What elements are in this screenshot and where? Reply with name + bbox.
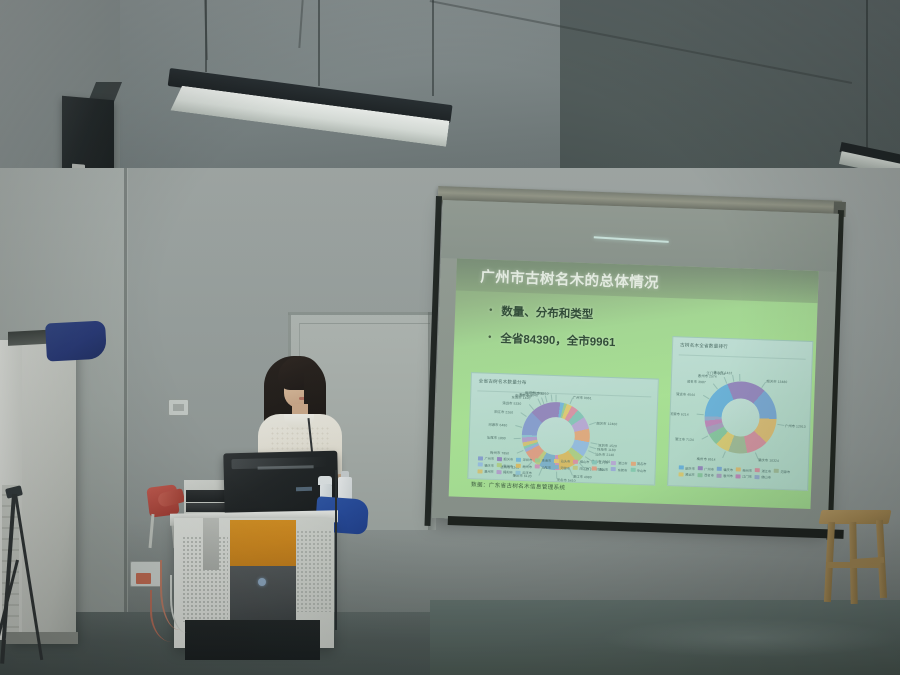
- legend-item: 梅州市: [736, 467, 752, 473]
- legend-item: 肇庆市: [478, 462, 494, 468]
- chart-leader-line: [529, 404, 534, 410]
- presentation-slide: 广州市古树名木的总体情况 • 数量、分布和类型 • 全省84390，全市9961…: [449, 259, 819, 509]
- legend-swatch: [535, 464, 540, 468]
- chart-leader-line: [713, 383, 718, 389]
- bullet-text: 全省84390，全市9961: [500, 330, 616, 350]
- bullet-text: 数量、分布和类型: [501, 303, 594, 322]
- bullet-item: • 数量、分布和类型: [489, 303, 699, 326]
- light-cord: [432, 0, 434, 96]
- legend-swatch: [573, 466, 578, 470]
- chart-leader-line: [515, 425, 522, 428]
- chart-leader-line: [550, 395, 552, 402]
- right-chart-labels: 韶关市 13480广州市 12913肇庆市 10324梅州市 8514湛江市 7…: [673, 337, 812, 342]
- legend-swatch: [698, 466, 703, 470]
- legend-item: 东莞市: [611, 467, 627, 473]
- legend-swatch: [516, 464, 521, 468]
- legend-item: 深圳市: [516, 457, 532, 463]
- legend-item: 揭阳市: [497, 469, 513, 475]
- chart-leader-line: [761, 382, 766, 388]
- floor-reflection: [600, 618, 900, 658]
- legend-swatch: [516, 457, 521, 461]
- chart-leader-line: [724, 377, 728, 384]
- legend-label: 广州市: [484, 456, 494, 461]
- legend-label: 揭阳市: [503, 469, 513, 474]
- blue-cloth-on-ac: [45, 320, 107, 361]
- legend-label: 江门市: [599, 460, 609, 465]
- legend-item: 汕尾市: [535, 464, 551, 470]
- legend-item: 清远市: [678, 471, 694, 477]
- slide-bullet-list: • 数量、分布和类型 • 全省84390，全市9961: [488, 303, 700, 364]
- chart-leader-line: [589, 446, 596, 449]
- legend-swatch: [592, 460, 597, 464]
- chart-leader-line: [545, 396, 548, 403]
- legend-label: 广州市: [704, 466, 714, 471]
- left-chart-title: 全省古树名木数量分布: [479, 378, 527, 386]
- legend-swatch: [611, 467, 616, 471]
- legend-swatch: [497, 470, 502, 474]
- chart-callout-label: 云浮市 1010: [530, 390, 549, 396]
- legend-label: 惠州市: [723, 473, 733, 478]
- legend-swatch: [630, 468, 635, 472]
- legend-item: 茂名市: [698, 472, 714, 478]
- legend-label: 茂名市: [704, 472, 714, 477]
- chart-callout-label: 韶关市 12460: [596, 420, 617, 426]
- equipment-dark-unit: [186, 503, 226, 512]
- chart-callout-label: 广州市 9961: [573, 395, 592, 401]
- chart-callout-label: 阳江市 2260: [494, 409, 513, 415]
- chart-leader-line: [590, 443, 597, 445]
- chart-leader-line: [514, 437, 521, 438]
- legend-item: 汕头市: [554, 458, 570, 464]
- legend-swatch: [611, 461, 616, 465]
- legend-swatch: [698, 473, 703, 477]
- chart-leader-line: [588, 450, 595, 454]
- legend-item: 湛江市: [755, 468, 771, 474]
- chart-callout-label: 佛山市 1422: [713, 370, 732, 376]
- legend-swatch: [573, 459, 578, 463]
- light-cord: [205, 0, 207, 72]
- legend-swatch: [755, 468, 760, 472]
- legend-item: 中山市: [630, 467, 646, 473]
- monitor-brand-text: [258, 465, 314, 469]
- chart-leader-line: [517, 450, 524, 454]
- bullet-item: • 全省84390，全市9961: [488, 330, 698, 353]
- wall-socket[interactable]: [168, 399, 189, 416]
- legend-swatch: [478, 462, 483, 466]
- bullet-marker: •: [489, 303, 493, 317]
- chart-callout-label: 汕尾市 1890: [487, 435, 506, 441]
- legend-label: 肇庆市: [723, 466, 733, 471]
- legend-label: 东莞市: [618, 467, 628, 472]
- right-chart-title: 古树名木全省数量排行: [680, 342, 728, 350]
- wooden-stool[interactable]: [820, 510, 890, 605]
- chart-callout-label: 清远市 5330: [502, 400, 521, 406]
- legend-label: 清远市: [599, 466, 609, 471]
- legend-swatch: [497, 457, 502, 461]
- right-chart-legend: 韶关市广州市肇庆市梅州市湛江市河源市清远市茂名市惠州市江门市佛山市: [678, 465, 798, 481]
- chart-callout-label: 湛江市 7134: [675, 436, 694, 442]
- legend-label: 中山市: [637, 467, 647, 472]
- chart-leader-line: [703, 395, 710, 399]
- chart-callout-label: 茂名市 5410: [557, 477, 576, 483]
- chart-leader-line: [521, 413, 527, 418]
- legend-swatch: [679, 465, 684, 469]
- legend-item: 湛江市: [611, 460, 627, 466]
- legend-swatch: [736, 467, 741, 471]
- legend-item: 梅州市: [516, 463, 532, 469]
- legend-swatch: [497, 463, 502, 467]
- legend-label: 清远市: [685, 472, 695, 477]
- chart-callout-label: 肇庆市 10324: [758, 457, 779, 463]
- legend-item: 阳江市: [573, 465, 589, 471]
- light-cord: [866, 0, 868, 152]
- legend-item: 珠海市: [535, 457, 551, 463]
- chart-callout-label: 韶关市 13480: [766, 379, 787, 385]
- legend-label: 河源市: [560, 465, 570, 470]
- legend-label: 汕头市: [561, 458, 571, 463]
- legend-label: 肇庆市: [484, 462, 494, 467]
- chart-panel-left: 全省古树名木数量分布 广州市 9961韶关市 12460深圳市 1520珠海市 …: [467, 372, 659, 485]
- legend-label: 韶关市: [503, 456, 513, 461]
- legend-swatch: [592, 466, 597, 470]
- chart-leader-line: [754, 452, 758, 459]
- legend-label: 惠州市: [503, 463, 513, 468]
- lectern-indicator-light[interactable]: [258, 578, 266, 586]
- monitor-power-button[interactable]: [296, 487, 312, 491]
- legend-item: 惠州市: [717, 473, 733, 479]
- light-cord: [318, 0, 320, 86]
- legend-item: 江门市: [736, 473, 752, 479]
- legend-item: 佛山市: [573, 459, 589, 465]
- legend-swatch: [755, 475, 760, 479]
- legend-label: 汕尾市: [541, 464, 551, 469]
- legend-item: 茂名市: [630, 461, 646, 467]
- legend-label: 潮州市: [484, 469, 494, 474]
- legend-item: 广州市: [478, 455, 494, 461]
- legend-label: 湛江市: [618, 460, 628, 465]
- chart-leader-line: [739, 374, 740, 381]
- legend-swatch: [774, 469, 779, 473]
- legend-label: 梅州市: [522, 463, 532, 468]
- lectern-front-panel-dark: [230, 566, 296, 621]
- legend-label: 河源市: [780, 468, 790, 473]
- chart-callout-label: 汕头市 2140: [595, 451, 614, 457]
- lectern-side-cloth: [203, 518, 219, 570]
- chart-panel-right: 古树名木全省数量排行 韶关市 13480广州市 12913肇庆市 10324梅州…: [667, 336, 813, 491]
- legend-item: 惠州市: [497, 463, 513, 469]
- legend-label: 云浮市: [522, 470, 532, 475]
- legend-swatch: [478, 456, 483, 460]
- panel-divider: [679, 354, 806, 359]
- legend-item: 韶关市: [679, 465, 695, 471]
- legend-item: 韶关市: [497, 456, 513, 462]
- chart-callout-label: 梅州市 8514: [697, 456, 716, 462]
- legend-item: 河源市: [774, 468, 790, 474]
- legend-item: 佛山市: [755, 474, 771, 480]
- bullet-marker: •: [488, 330, 492, 344]
- chart-leader-line: [777, 424, 784, 426]
- chair-leg: [149, 514, 155, 548]
- legend-swatch: [717, 467, 722, 471]
- chart-callout-label: 茂名市 3987: [687, 379, 706, 385]
- legend-label: 江门市: [742, 474, 752, 479]
- legend-label: 韶关市: [685, 465, 695, 470]
- lectern-speaker-grille: [296, 530, 332, 612]
- lectern-cable-cavity: [185, 620, 320, 660]
- chart-leader-line: [723, 452, 727, 459]
- chart-leader-line: [702, 435, 709, 439]
- chart-leader-line: [555, 395, 556, 402]
- chart-callout-label: 清远市 4544: [676, 391, 695, 397]
- legend-swatch: [554, 465, 559, 469]
- legend-swatch: [717, 473, 722, 477]
- legend-item: 肇庆市: [717, 466, 733, 472]
- legend-label: 湛江市: [761, 468, 771, 473]
- legend-item: 清远市: [592, 466, 608, 472]
- equipment-dark-unit: [186, 490, 226, 502]
- chart-leader-line: [541, 397, 544, 404]
- wall-edge: [124, 168, 127, 643]
- legend-swatch: [477, 469, 482, 473]
- legend-label: 佛山市: [761, 474, 771, 479]
- legend-label: 阳江市: [579, 465, 589, 470]
- chart-callout-label: 梅州市 7850: [490, 450, 509, 456]
- chart-leader-line: [589, 422, 596, 425]
- lecture-room-photo: 广州市古树名木的总体情况 • 数量、分布和类型 • 全省84390，全市9961…: [0, 0, 900, 675]
- projection-screen: 广州市古树名木的总体情况 • 数量、分布和类型 • 全省84390，全市9961…: [432, 200, 839, 532]
- chart-callout-label: 河源市 6480: [488, 422, 507, 428]
- legend-label: 深圳市: [523, 457, 533, 462]
- legend-item: 潮州市: [477, 468, 493, 474]
- legend-swatch: [630, 461, 635, 465]
- legend-item: 云浮市: [516, 470, 532, 476]
- left-chart-legend: 广州市韶关市深圳市珠海市汕头市佛山市江门市湛江市茂名市肇庆市惠州市梅州市汕尾市河…: [477, 455, 648, 479]
- legend-swatch: [535, 458, 540, 462]
- legend-label: 梅州市: [742, 467, 752, 472]
- panel-divider: [477, 390, 651, 397]
- chart-leader-line: [732, 375, 734, 382]
- chart-leader-line: [569, 398, 573, 405]
- legend-swatch: [679, 472, 684, 476]
- legend-item: 广州市: [698, 466, 714, 472]
- legend-item: 河源市: [554, 465, 570, 471]
- legend-label: 佛山市: [580, 459, 590, 464]
- legend-label: 茂名市: [637, 461, 647, 466]
- legend-swatch: [554, 459, 559, 463]
- chart-leader-line: [697, 414, 704, 416]
- legend-swatch: [516, 470, 521, 474]
- legend-swatch: [736, 474, 741, 478]
- lectern-front-panel-orange: [230, 520, 296, 568]
- legend-item: 江门市: [592, 459, 608, 465]
- blouse-lace-texture: [270, 426, 330, 452]
- legend-label: 珠海市: [542, 458, 552, 463]
- chart-callout-label: 河源市 6214: [670, 411, 689, 417]
- chart-callout-label: 广州市 12913: [785, 423, 806, 429]
- wall-socket-red[interactable]: [136, 573, 151, 584]
- air-conditioner-base: [6, 632, 78, 644]
